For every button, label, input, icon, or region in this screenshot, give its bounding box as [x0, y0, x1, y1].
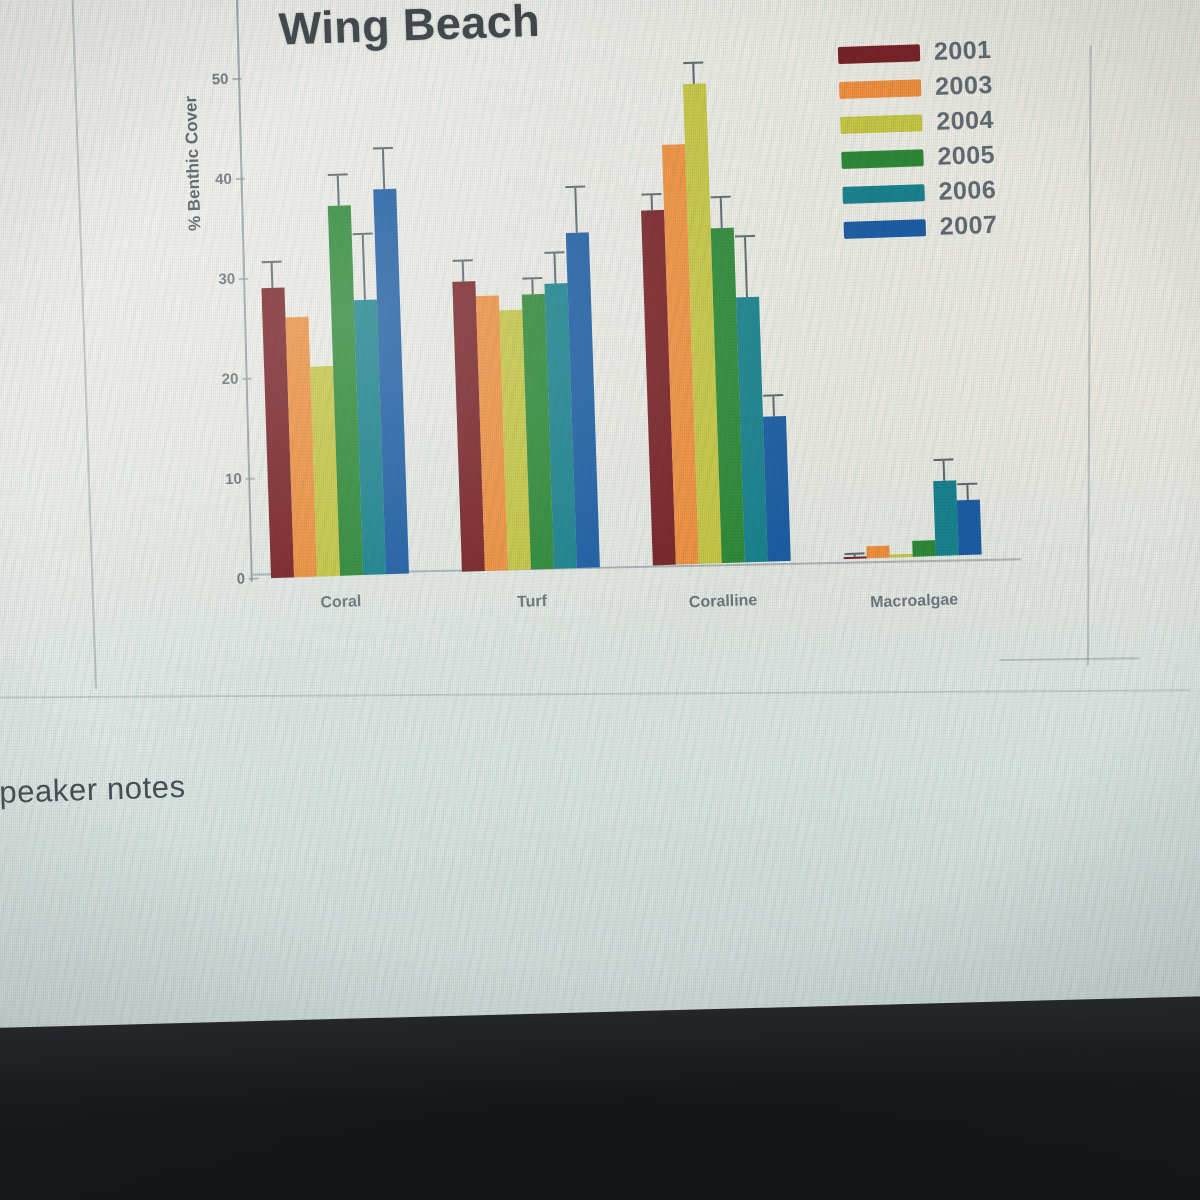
error-bar-coralline-2004 [692, 64, 695, 84]
legend-label-2007: 2007 [939, 211, 998, 242]
error-bar-cap-turf-2007 [565, 185, 585, 188]
error-bar-turf-2001 [462, 262, 465, 282]
legend-swatch-2001 [838, 44, 921, 64]
legend-swatch-2007 [844, 219, 927, 239]
bar-macroalgae-2005[interactable] [912, 540, 936, 557]
slide-frame-left-border [68, 0, 97, 689]
legend-swatch-2003 [839, 79, 922, 99]
bar-group-turf [442, 0, 612, 572]
error-bar-macroalgae-2001 [854, 555, 856, 557]
x-axis-category-coralline: Coralline [689, 592, 758, 612]
error-bar-coralline-2007 [772, 396, 775, 416]
bar-macroalgae-2001[interactable] [844, 556, 867, 559]
error-bar-cap-coralline-2005 [711, 196, 731, 199]
error-bar-coralline-2006 [744, 237, 748, 297]
error-bar-turf-2006 [553, 254, 556, 284]
legend-item-2005: 2005 [841, 138, 1022, 179]
error-bar-cap-coral-2005 [328, 173, 348, 176]
error-bar-cap-coral-2007 [373, 147, 393, 150]
error-bar-cap-coral-2001 [262, 261, 282, 264]
slide-frame-right-border [1087, 46, 1092, 666]
speaker-notes-divider [0, 689, 1190, 699]
legend-item-2007: 2007 [843, 208, 1024, 249]
error-bar-coral-2007 [382, 149, 385, 189]
x-axis-category-macroalgae: Macroalgae [870, 591, 959, 612]
legend-label-2006: 2006 [938, 176, 997, 207]
y-axis-ticks: 6050403020100 [134, 0, 245, 585]
legend-label-2004: 2004 [936, 106, 995, 137]
error-bar-coralline-2001 [651, 195, 653, 210]
error-bar-cap-macroalgae-2007 [957, 483, 977, 486]
legend-item-2001: 2001 [838, 33, 1019, 74]
bar-coralline-2007[interactable] [763, 416, 791, 562]
y-tick-label-20: 20 [156, 371, 239, 391]
error-bar-coral-2001 [271, 263, 274, 288]
error-bar-turf-2005 [531, 279, 533, 294]
error-bar-macroalgae-2006 [943, 461, 946, 481]
error-bar-macroalgae-2007 [966, 485, 968, 500]
y-tick-label-50: 50 [146, 71, 229, 91]
benthic-cover-bar-chart[interactable]: Wing Beach % Benthic Cover 6050403020100… [134, 0, 1057, 650]
monitor-bezel [0, 993, 1200, 1200]
legend-swatch-2004 [840, 114, 923, 134]
error-bar-coral-2006 [362, 235, 366, 300]
error-bar-cap-coralline-2006 [735, 235, 755, 238]
error-bar-cap-coralline-2007 [763, 394, 783, 397]
chart-legend: 200120032004200520062007 [838, 33, 1025, 249]
error-bar-cap-macroalgae-2001 [845, 552, 865, 555]
x-axis-category-turf: Turf [517, 593, 548, 612]
y-tick-label-0: 0 [163, 570, 246, 590]
bar-group-coral [251, 0, 421, 578]
error-bar-cap-turf-2006 [544, 251, 564, 254]
legend-swatch-2005 [841, 149, 924, 169]
legend-swatch-2006 [842, 184, 925, 204]
legend-label-2005: 2005 [937, 141, 996, 172]
error-bar-cap-turf-2005 [522, 277, 542, 280]
bar-macroalgae-2007[interactable] [957, 500, 982, 556]
x-axis-category-coral: Coral [320, 593, 361, 612]
error-bar-cap-coralline-2001 [642, 193, 662, 196]
error-bar-coralline-2005 [720, 198, 723, 228]
monitor-screen: Wing Beach % Benthic Cover 6050403020100… [0, 0, 1200, 1102]
speaker-notes-placeholder[interactable]: dd speaker notes [0, 769, 186, 813]
bar-macroalgae-2003[interactable] [866, 546, 889, 559]
y-tick-label-30: 30 [153, 271, 236, 291]
error-bar-coral-2005 [337, 176, 340, 206]
legend-label-2001: 2001 [934, 36, 993, 67]
monitor-photograph: Wing Beach % Benthic Cover 6050403020100… [0, 0, 1200, 1200]
error-bar-cap-coralline-2004 [683, 61, 703, 64]
y-tick-label-40: 40 [150, 171, 233, 191]
error-bar-cap-coral-2006 [353, 233, 373, 236]
bar-macroalgae-2006[interactable] [933, 480, 958, 556]
bar-macroalgae-2004[interactable] [890, 554, 913, 558]
legend-item-2004: 2004 [840, 103, 1021, 144]
y-tick-label-10: 10 [160, 471, 243, 491]
slide-frame-bottom-border [999, 657, 1139, 661]
error-bar-cap-turf-2001 [453, 259, 473, 262]
error-bar-cap-macroalgae-2006 [933, 458, 953, 461]
legend-item-2006: 2006 [842, 173, 1023, 214]
bar-group-coralline [633, 0, 803, 565]
legend-label-2003: 2003 [935, 71, 994, 102]
legend-item-2003: 2003 [839, 68, 1020, 109]
error-bar-turf-2007 [574, 188, 577, 233]
